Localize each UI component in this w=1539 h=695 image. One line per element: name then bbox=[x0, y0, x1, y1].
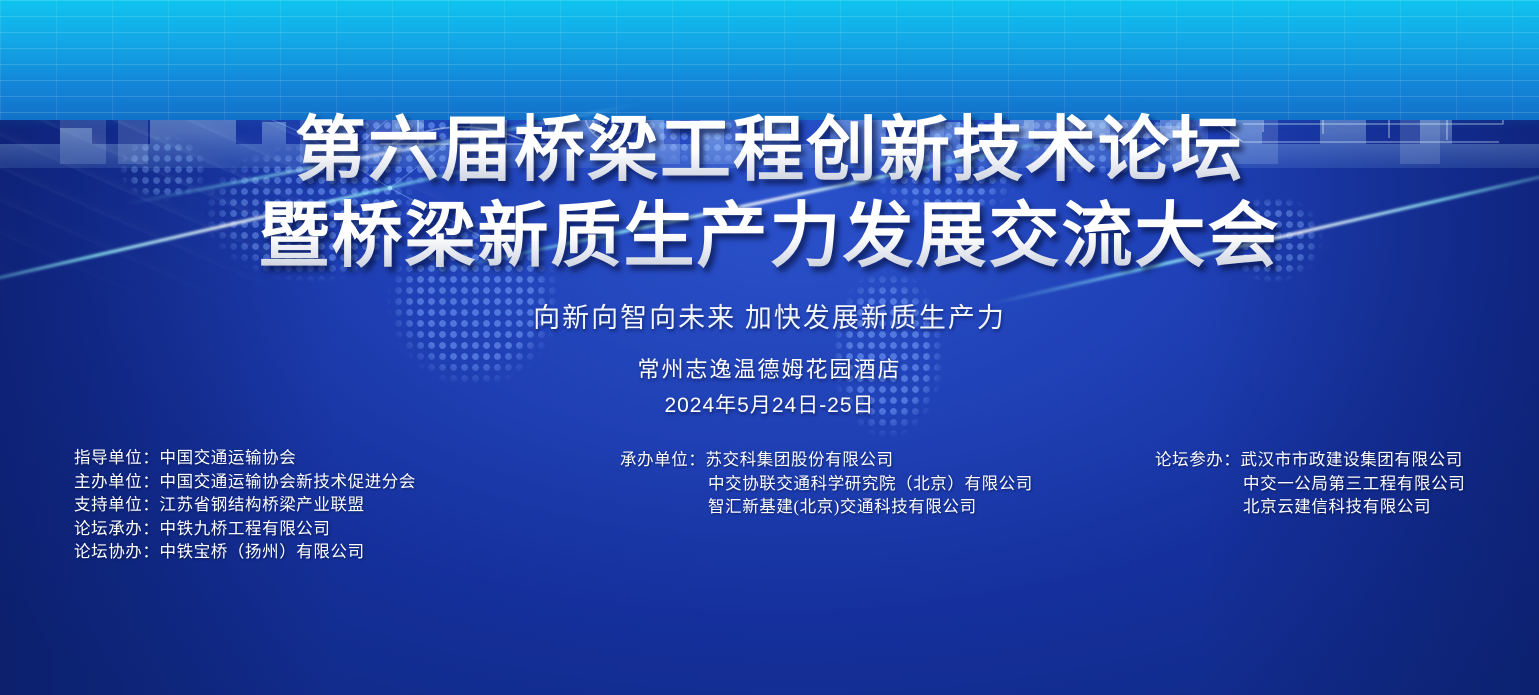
slogan-text: 向新向智向未来 加快发展新质生产力 bbox=[0, 296, 1539, 335]
organizer-label: 论坛协办： bbox=[74, 540, 160, 564]
page-title: 第六届桥梁工程创新技术论坛 暨桥梁新质生产力发展交流大会 bbox=[0, 108, 1539, 280]
organizer-value: 武汉市市政建设集团有限公司 bbox=[1241, 450, 1463, 469]
organizer-row: 智汇新基建(北京)交通科技有限公司 bbox=[620, 495, 1033, 519]
organizer-label: 论坛承办： bbox=[74, 517, 160, 541]
organizer-row: 北京云建信科技有限公司 bbox=[1155, 495, 1465, 519]
organizer-label: 主办单位： bbox=[74, 470, 160, 494]
organizer-value: 中交协联交通科学研究院（北京）有限公司 bbox=[708, 474, 1033, 493]
organizers-column-center: 承办单位：苏交科集团股份有限公司 中交协联交通科学研究院（北京）有限公司 智汇新… bbox=[620, 448, 1033, 519]
organizer-value: 中国交通运输协会 bbox=[160, 448, 297, 467]
organizers-column-right: 论坛参办：武汉市市政建设集团有限公司 中交一公局第三工程有限公司 北京云建信科技… bbox=[1155, 448, 1465, 519]
organizer-row: 中交协联交通科学研究院（北京）有限公司 bbox=[620, 472, 1033, 496]
organizer-row: 中交一公局第三工程有限公司 bbox=[1155, 472, 1465, 496]
organizer-row: 主办单位：中国交通运输协会新技术促进分会 bbox=[74, 470, 416, 494]
organizer-value: 智汇新基建(北京)交通科技有限公司 bbox=[708, 497, 977, 516]
organizers-block: 指导单位：中国交通运输协会 主办单位：中国交通运输协会新技术促进分会 支持单位：… bbox=[0, 446, 1539, 566]
organizer-value: 江苏省钢结构桥梁产业联盟 bbox=[160, 495, 365, 514]
organizer-value: 苏交科集团股份有限公司 bbox=[706, 450, 894, 469]
title-line-1: 第六届桥梁工程创新技术论坛 bbox=[0, 108, 1539, 194]
organizer-value: 中铁宝桥（扬州）有限公司 bbox=[160, 542, 365, 561]
venue-date: 2024年5月24日-25日 bbox=[0, 389, 1539, 419]
organizers-column-left: 指导单位：中国交通运输协会 主办单位：中国交通运输协会新技术促进分会 支持单位：… bbox=[74, 446, 416, 564]
organizer-label: 指导单位： bbox=[74, 446, 160, 470]
venue-block: 常州志逸温德姆花园酒店 2024年5月24日-25日 bbox=[0, 352, 1539, 419]
venue-name: 常州志逸温德姆花园酒店 bbox=[0, 352, 1539, 384]
organizer-row: 论坛承办：中铁九桥工程有限公司 bbox=[74, 517, 416, 541]
organizer-row: 指导单位：中国交通运输协会 bbox=[74, 446, 416, 470]
organizer-label: 支持单位： bbox=[74, 493, 160, 517]
organizer-value: 中国交通运输协会新技术促进分会 bbox=[160, 472, 417, 491]
organizer-value: 北京云建信科技有限公司 bbox=[1243, 497, 1431, 516]
conference-banner: 第六届桥梁工程创新技术论坛 暨桥梁新质生产力发展交流大会 向新向智向未来 加快发… bbox=[0, 0, 1539, 695]
organizer-row: 论坛参办：武汉市市政建设集团有限公司 bbox=[1155, 448, 1465, 472]
organizer-value: 中交一公局第三工程有限公司 bbox=[1243, 474, 1465, 493]
title-line-2: 暨桥梁新质生产力发展交流大会 bbox=[0, 194, 1539, 280]
organizer-label: 论坛参办： bbox=[1155, 448, 1241, 472]
banner-content: 第六届桥梁工程创新技术论坛 暨桥梁新质生产力发展交流大会 向新向智向未来 加快发… bbox=[0, 0, 1539, 695]
organizer-row: 论坛协办：中铁宝桥（扬州）有限公司 bbox=[74, 540, 416, 564]
organizer-value: 中铁九桥工程有限公司 bbox=[160, 519, 331, 538]
organizer-row: 支持单位：江苏省钢结构桥梁产业联盟 bbox=[74, 493, 416, 517]
organizer-label: 承办单位： bbox=[620, 448, 706, 472]
organizer-row: 承办单位：苏交科集团股份有限公司 bbox=[620, 448, 1033, 472]
